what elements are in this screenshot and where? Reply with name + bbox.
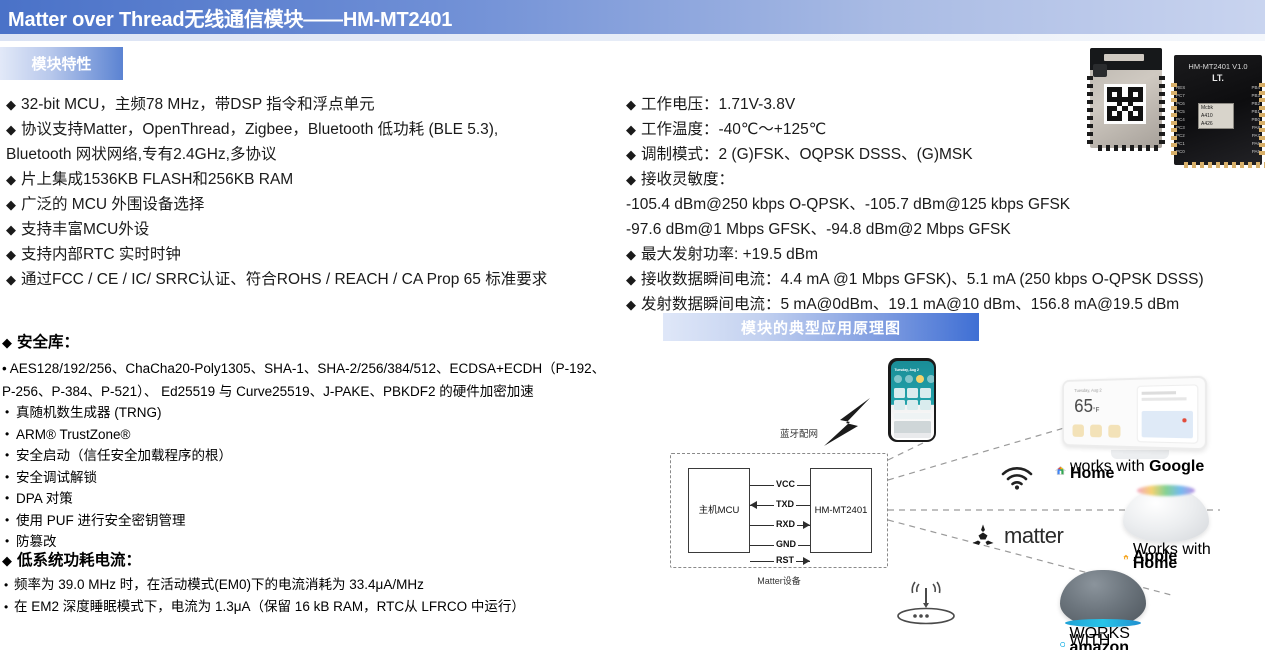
diamond-bullet-icon: ◆ <box>626 297 636 312</box>
pcb-pads-right <box>1259 83 1265 155</box>
spec-sensitivity-line-1: -105.4 dBm@250 kbps O-QPSK、-105.7 dBm@12… <box>626 192 1258 217</box>
module-photo-pcb: HM-MT2401 V1.0 LT. Mcbk A410 A426 RES PC… <box>1174 55 1262 165</box>
feature-line-4: ◆广泛的 MCU 外围设备选择 <box>6 192 616 217</box>
block-hm-mt2401: HM-MT2401 <box>810 468 872 553</box>
nest-hub-screen-label: Tuesday, Aug 2 <box>1074 388 1101 393</box>
nest-hub-tiles <box>1073 424 1121 437</box>
feature-line-2a: ◆协议支持Matter，OpenThread，Zigbee，Bluetooth … <box>6 117 616 142</box>
device-google-nest-hub: Tuesday, Aug 2 65°F works with <box>1055 378 1225 477</box>
pcb-chip-line-1: Mcbk <box>1199 104 1233 112</box>
spec-max-tx-power: ◆最大发射功率: +19.5 dBm <box>626 242 1258 267</box>
title-underline <box>0 34 1265 41</box>
signal-vcc: VCC <box>750 480 810 492</box>
module-pins-left <box>1087 76 1093 144</box>
pcb-chip-line-2: A410 <box>1199 112 1233 120</box>
module-rf-can <box>1093 64 1107 77</box>
feature-line-3: ◆片上集成1536KB FLASH和256KB RAM <box>6 167 616 192</box>
diamond-bullet-icon: ◆ <box>626 272 636 287</box>
phone-camera-preview <box>894 421 931 434</box>
product-datasheet-page: Matter over Thread无线通信模块——HM-MT2401 模块特性… <box>0 0 1265 650</box>
pcb-pin-labels-left: RES PC7 PC6 PC5 PC4 PC3 PC2 PC1 PC0 <box>1176 85 1185 154</box>
security-item: 安全调试解锁 <box>2 467 662 489</box>
signal-rst: RST <box>750 556 810 568</box>
security-item: 真随机数生成器 (TRNG) <box>2 402 662 424</box>
low-power-item: 在 EM2 深度睡眠模式下，电流为 1.3μA（保留 16 kB RAM，RTC… <box>2 596 662 618</box>
features-left-column: ◆32-bit MCU，主频78 MHz，带DSP 指令和浮点单元 ◆协议支持M… <box>6 92 616 292</box>
phone-category-chips <box>894 375 934 383</box>
module-pins-bottom <box>1098 145 1158 151</box>
pcb-chip-line-3: A426 <box>1199 120 1233 128</box>
spec-sensitivity-line-2: -97.6 dBm@1 Mbps GFSK、-94.8 dBm@2 Mbps G… <box>626 217 1258 242</box>
diamond-bullet-icon: ◆ <box>6 272 16 287</box>
pcb-pads-left <box>1171 83 1177 155</box>
device-homepod-mini: Works with Apple Home <box>1123 488 1219 567</box>
amazon-alexa-text: WORKS WITH amazon alexa <box>1069 630 1160 650</box>
phone-search-bar <box>894 413 931 419</box>
wifi-icon <box>1000 466 1034 490</box>
security-item: DPA 对策 <box>2 488 662 510</box>
section-badge-diagram: 模块的典型应用原理图 <box>663 313 979 341</box>
signal-gnd: GND <box>750 540 810 552</box>
low-power-block: ◆低系统功耗电流： 频率为 39.0 MHz 时，在活动模式(EM0)下的电流消… <box>2 548 662 618</box>
apple-home-icon <box>1123 552 1129 562</box>
signal-txd: TXD <box>750 500 810 512</box>
lightning-bolt-icon <box>820 396 874 448</box>
section-badge-features-label: 模块特性 <box>31 53 91 74</box>
diamond-bullet-icon: ◆ <box>6 197 16 212</box>
matter-symbol-icon <box>970 523 996 549</box>
diamond-bullet-icon: ◆ <box>6 247 16 262</box>
pcb-chip: Mcbk A410 A426 <box>1198 103 1234 129</box>
diamond-bullet-icon: ◆ <box>626 147 636 162</box>
feature-line-5: ◆支持丰富MCU外设 <box>6 217 616 242</box>
security-heading: ◆安全库： <box>2 330 662 356</box>
echo-dot-body <box>1060 570 1146 626</box>
diamond-bullet-icon: ◆ <box>626 97 636 112</box>
diamond-bullet-icon: ◆ <box>6 97 16 112</box>
security-library-block: ◆安全库： • AES128/192/256、ChaCha20-Poly1305… <box>2 330 662 553</box>
homepod-mini-body <box>1123 488 1209 542</box>
smartphone-app-mockup: Tuesday, Aug 2 <box>888 358 936 442</box>
google-home-badge: works with Google Home <box>1055 463 1225 477</box>
security-crypto-line-1: • AES128/192/256、ChaCha20-Poly1305、SHA-1… <box>2 358 662 379</box>
diamond-bullet-icon: ◆ <box>626 247 636 262</box>
matter-wordmark: matter <box>1004 523 1063 549</box>
module-photo-shielded <box>1090 48 1162 148</box>
amazon-alexa-badge: WORKS WITH amazon alexa <box>1060 630 1160 650</box>
phone-bottom-nav <box>894 433 931 438</box>
security-crypto-line-2: P-256、P-384、P-521）、 Ed25519 与 Curve25519… <box>2 381 662 402</box>
matter-brand-logo: matter <box>970 523 1063 549</box>
nest-hub-map-card <box>1137 384 1199 443</box>
apple-home-text: Works with Apple Home <box>1133 546 1219 567</box>
google-home-text: works with Google Home <box>1070 463 1225 477</box>
feature-line-2b: Bluetooth 网状网络,专有2.4GHz,多协议 <box>6 142 616 167</box>
apple-home-badge: Works with Apple Home <box>1123 546 1219 567</box>
diamond-bullet-icon: ◆ <box>626 172 636 187</box>
google-home-icon <box>1055 465 1066 476</box>
diamond-bullet-icon: ◆ <box>2 335 12 350</box>
section-badge-features: 模块特性 <box>0 47 123 80</box>
pcb-silkscreen-sub: LT. <box>1174 73 1262 83</box>
diamond-bullet-icon: ◆ <box>6 122 16 137</box>
bluetooth-provision-label: 蓝牙配网 <box>780 426 818 440</box>
phone-cards <box>894 388 931 410</box>
matter-device-caption: Matter设备 <box>670 574 888 587</box>
low-power-heading: ◆低系统功耗电流： <box>2 548 662 574</box>
block-host-mcu: 主机MCU <box>688 468 750 553</box>
amazon-alexa-icon <box>1060 638 1065 650</box>
device-echo-dot: WORKS WITH amazon alexa <box>1060 570 1160 650</box>
diamond-bullet-icon: ◆ <box>6 222 16 237</box>
security-item: ARM® TrustZone® <box>2 424 662 446</box>
section-badge-diagram-label: 模块的典型应用原理图 <box>741 317 901 338</box>
pcb-pads-bottom <box>1184 162 1265 168</box>
module-pins-right <box>1159 76 1165 144</box>
page-title-bar: Matter over Thread无线通信模块——HM-MT2401 <box>0 0 1265 34</box>
signal-rxd: RXD <box>750 520 810 532</box>
application-diagram: 主机MCU HM-MT2401 VCC TXD RXD GND RST Matt… <box>655 348 1265 648</box>
qr-code-icon <box>1104 84 1146 124</box>
security-item: 安全启动（信任安全加载程序的根） <box>2 445 662 467</box>
page-title: Matter over Thread无线通信模块——HM-MT2401 <box>0 3 452 32</box>
pcb-silkscreen-title: HM-MT2401 V1.0 <box>1174 62 1262 71</box>
feature-line-1: ◆32-bit MCU，主频78 MHz，带DSP 指令和浮点单元 <box>6 92 616 117</box>
nest-hub-screen: Tuesday, Aug 2 65°F <box>1062 376 1207 451</box>
phone-app-title: Tuesday, Aug 2 <box>895 368 919 372</box>
router-icon <box>895 578 957 626</box>
feature-line-6: ◆支持内部RTC 实时时钟 <box>6 242 616 267</box>
feature-line-7: ◆通过FCC / CE / IC/ SRRC认证、符合ROHS / REACH … <box>6 267 616 292</box>
diamond-bullet-icon: ◆ <box>6 172 16 187</box>
module-photos: HM-MT2401 V1.0 LT. Mcbk A410 A426 RES PC… <box>1090 45 1262 185</box>
nest-hub-temperature: 65°F <box>1074 396 1099 417</box>
low-power-item: 频率为 39.0 MHz 时，在活动模式(EM0)下的电流消耗为 33.4μA/… <box>2 574 662 596</box>
spec-rx-current: ◆接收数据瞬间电流：4.4 mA @1 Mbps GFSK)、5.1 mA (2… <box>626 267 1258 292</box>
diamond-bullet-icon: ◆ <box>2 553 12 568</box>
security-item: 使用 PUF 进行安全密钥管理 <box>2 510 662 532</box>
diamond-bullet-icon: ◆ <box>626 122 636 137</box>
